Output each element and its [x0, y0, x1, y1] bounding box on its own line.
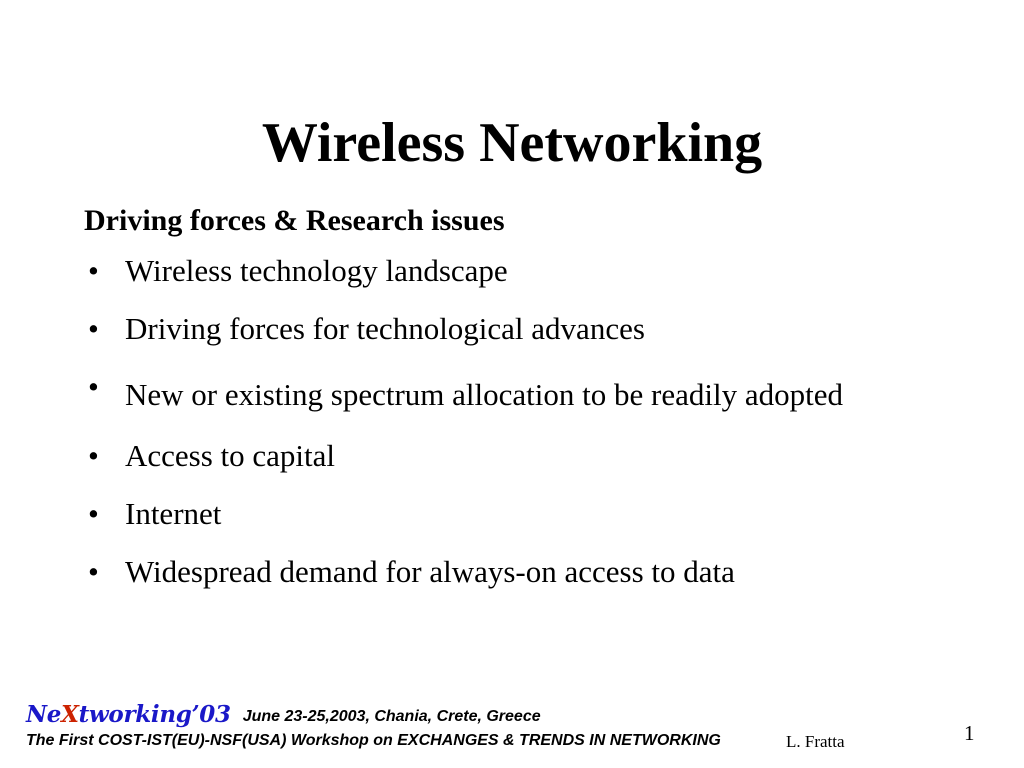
bullet-point-icon: •	[88, 556, 99, 587]
footer-conference-line: NeXtworking’03 June 23-25,2003, Chania, …	[26, 703, 1006, 726]
list-item: • Wireless technology landscape	[84, 255, 964, 286]
slide-title: Wireless Networking	[0, 114, 1024, 173]
list-item: • Driving forces for technological advan…	[84, 313, 964, 344]
bullet-point-icon: •	[88, 255, 99, 286]
list-item-label: Driving forces for technological advance…	[125, 311, 645, 346]
slide-subheading: Driving forces & Research issues	[84, 206, 964, 236]
list-item: • New or existing spectrum allocation to…	[84, 371, 945, 418]
bullet-point-icon: •	[88, 498, 99, 529]
list-item-label: Widespread demand for always-on access t…	[125, 554, 735, 589]
conference-logo: NeXtworking’03	[26, 703, 231, 726]
conference-logo-suffix: tworking’03	[79, 701, 231, 728]
list-item: • Internet	[84, 498, 964, 529]
conference-logo-prefix: Ne	[26, 701, 61, 728]
presentation-slide: Wireless Networking Driving forces & Res…	[0, 0, 1024, 768]
bullet-point-icon: •	[88, 313, 99, 344]
list-item: • Access to capital	[84, 440, 964, 471]
list-item-label: New or existing spectrum allocation to b…	[125, 377, 843, 412]
list-item: • Widespread demand for always-on access…	[84, 556, 964, 587]
list-item-label: Internet	[125, 496, 221, 531]
conference-logo-accent: X	[61, 701, 79, 728]
page-number: 1	[964, 723, 975, 744]
workshop-title: The First COST-IST(EU)-NSF(USA) Workshop…	[26, 733, 1006, 749]
bullet-point-icon: •	[88, 371, 99, 402]
slide-footer: NeXtworking’03 June 23-25,2003, Chania, …	[26, 703, 1006, 749]
list-item-label: Access to capital	[125, 438, 335, 473]
author-name: L. Fratta	[786, 733, 845, 750]
slide-body: Driving forces & Research issues • Wirel…	[84, 206, 964, 614]
bullet-list: • Wireless technology landscape • Drivin…	[84, 255, 964, 587]
list-item-label: Wireless technology landscape	[125, 253, 508, 288]
conference-dates-location: June 23-25,2003, Chania, Crete, Greece	[243, 709, 541, 725]
bullet-point-icon: •	[88, 440, 99, 471]
